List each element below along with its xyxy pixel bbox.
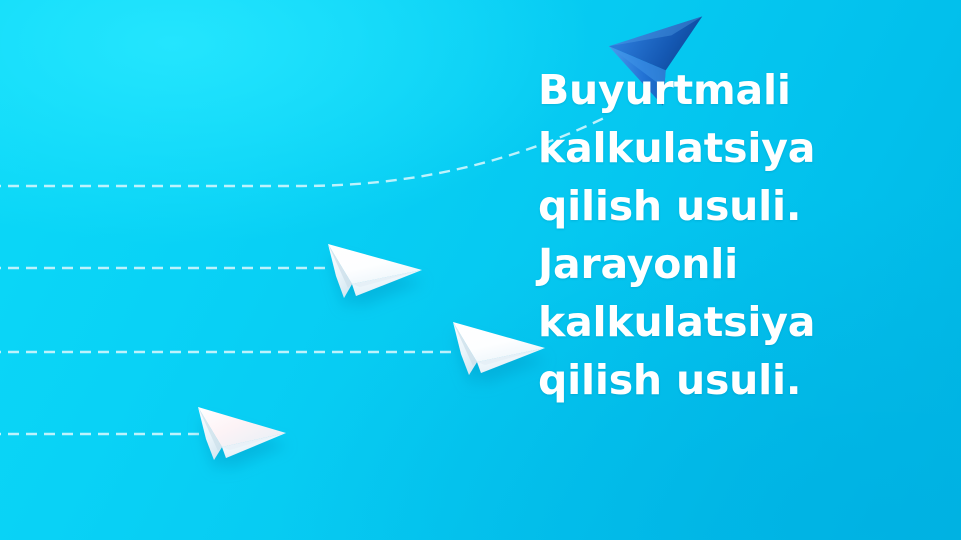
headline-line-3: qilish usuli.: [538, 177, 958, 235]
headline-text-block: Buyurtmali kalkulatsiya qilish usuli. Ja…: [538, 61, 958, 409]
headline-line-1: Buyurtmali: [538, 61, 958, 119]
white-paper-plane-3: [198, 407, 286, 460]
white-paper-plane-1: [328, 244, 422, 298]
headline-line-4: Jarayonli: [538, 235, 958, 293]
headline-line-6: qilish usuli.: [538, 351, 958, 409]
headline-line-5: kalkulatsiya: [538, 293, 958, 351]
headline-line-2: kalkulatsiya: [538, 119, 958, 177]
slide-canvas: Buyurtmali kalkulatsiya qilish usuli. Ja…: [0, 0, 961, 540]
white-paper-plane-2: [453, 322, 545, 375]
